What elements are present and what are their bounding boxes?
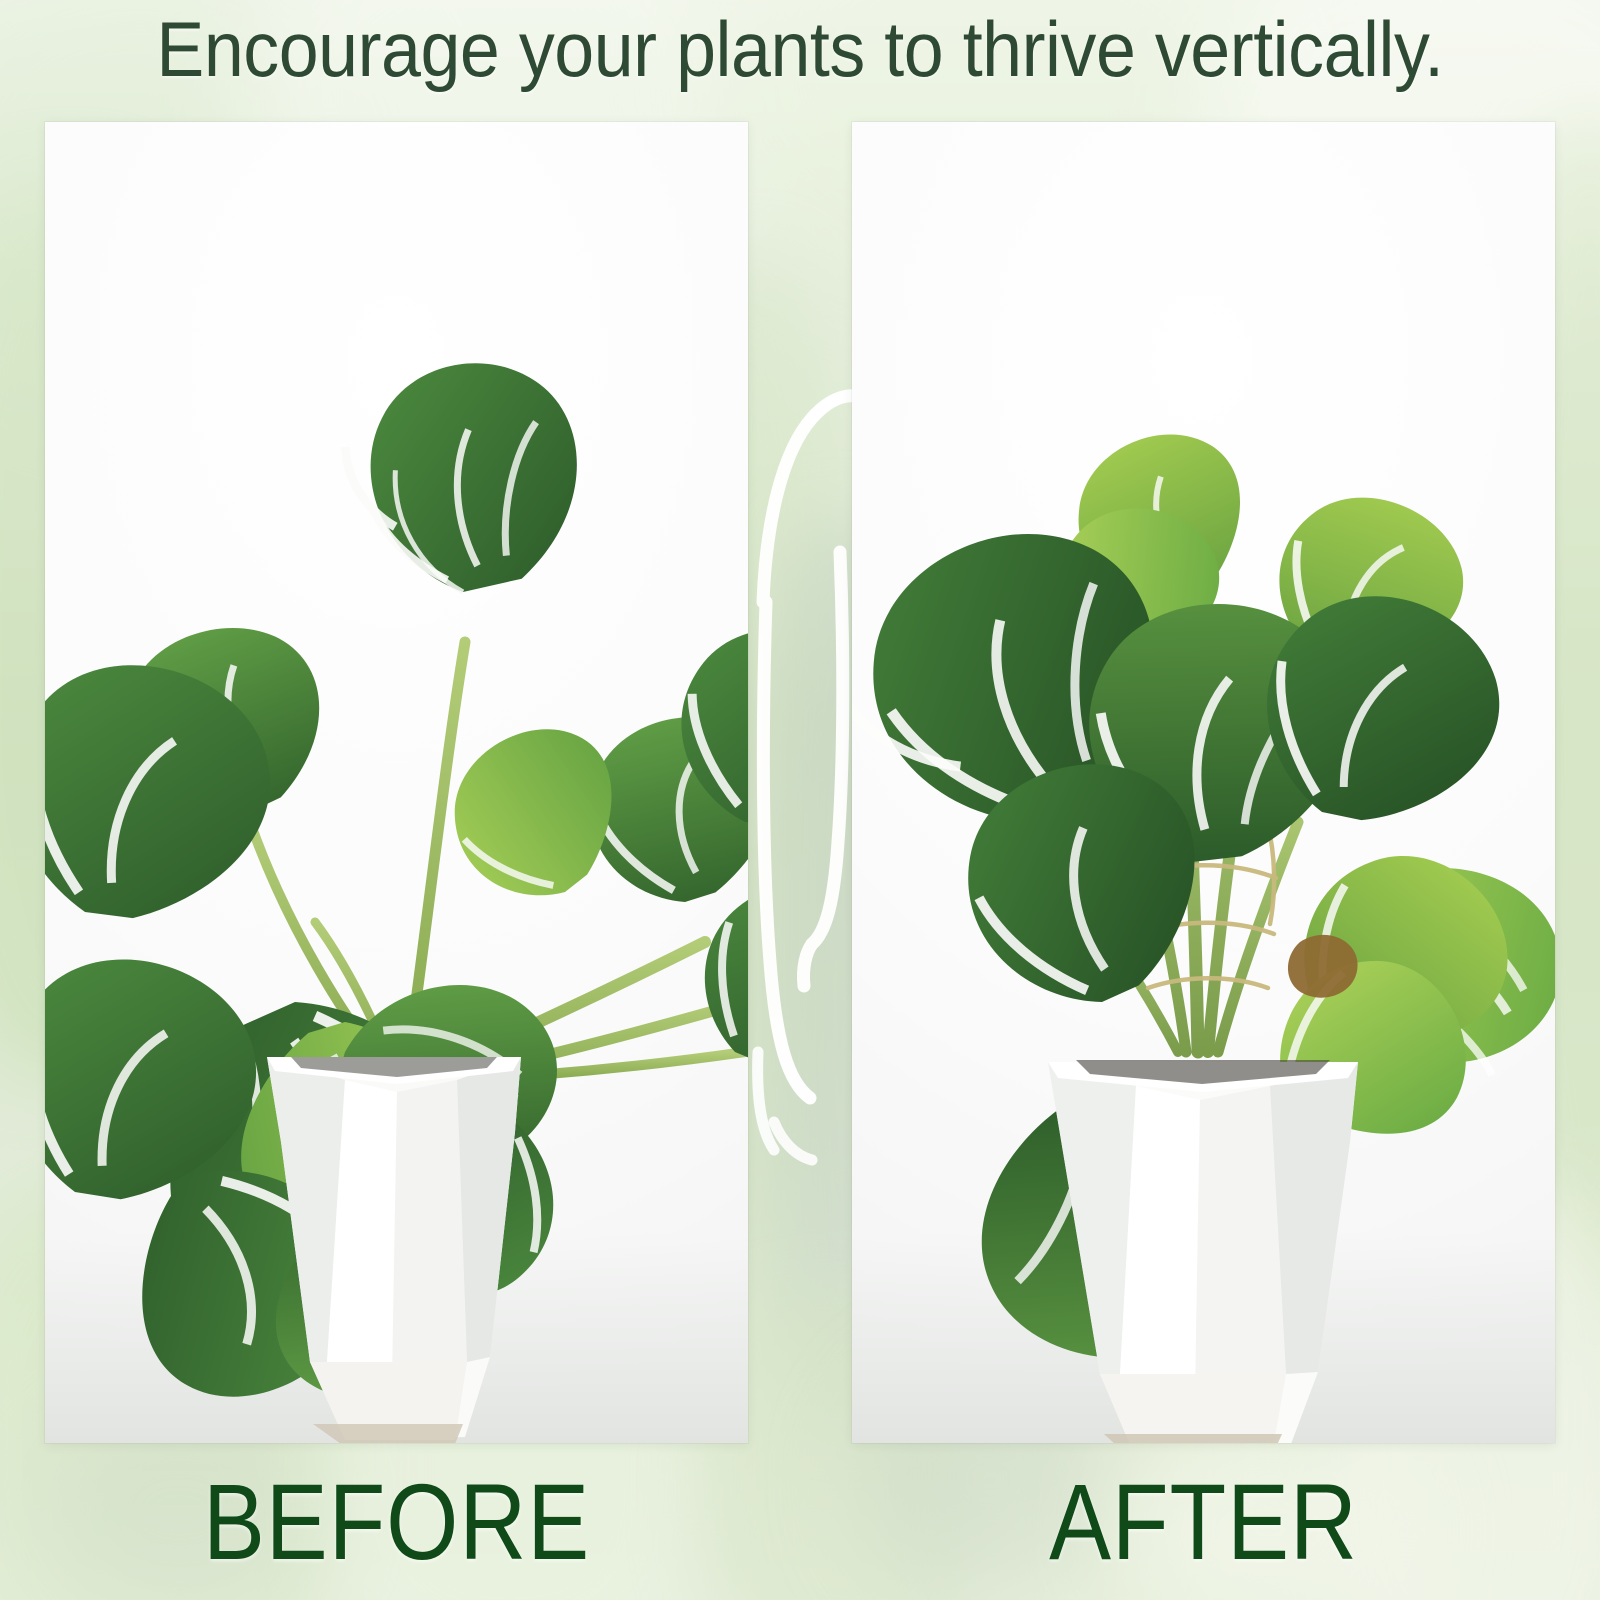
after-monstera-plant <box>852 122 1555 1443</box>
before-panel <box>45 122 748 1443</box>
before-monstera-plant <box>45 122 748 1443</box>
wire-chair-decor <box>748 122 852 1443</box>
after-caption: AFTER <box>901 1468 1506 1576</box>
after-planter-pot <box>1048 1060 1358 1443</box>
page-title: Encourage your plants to thrive vertical… <box>64 10 1536 88</box>
promo-image: Encourage your plants to thrive vertical… <box>0 0 1600 1600</box>
before-caption: BEFORE <box>94 1468 699 1576</box>
after-panel <box>852 122 1555 1443</box>
before-planter-pot <box>267 1057 521 1443</box>
